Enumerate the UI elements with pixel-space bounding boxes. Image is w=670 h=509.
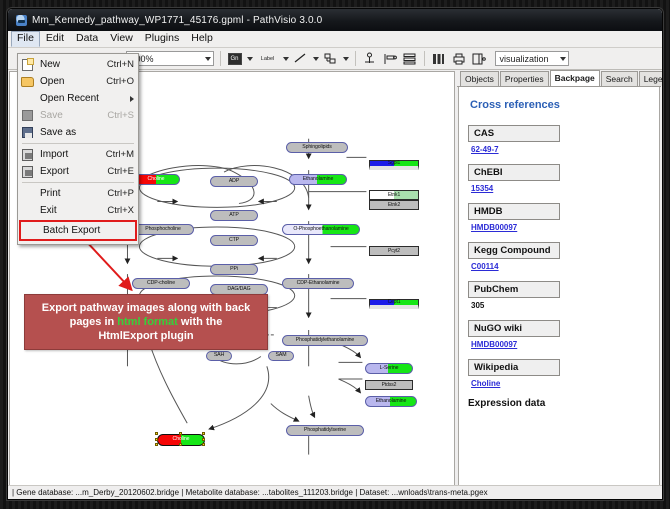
xref-link-anchor[interactable]: HMDB00097 — [471, 223, 517, 232]
visualization-value: visualization — [500, 54, 549, 64]
xref-link-anchor[interactable]: 62-49-7 — [471, 145, 499, 154]
menu-item-export-accel: Ctrl+E — [107, 166, 134, 177]
menu-item-import-label: Import — [40, 149, 106, 160]
xref-header: CAS — [468, 125, 560, 142]
xref-header: NuGO wiki — [468, 320, 560, 337]
callout-line-2: pages in html format with the — [33, 315, 259, 329]
menu-item-exit-accel: Ctrl+X — [107, 205, 134, 216]
menu-item-exit[interactable]: Exit Ctrl+X — [18, 202, 138, 219]
menu-item-save-accel: Ctrl+S — [107, 110, 134, 121]
menu-item-batch-export-label: Batch Export — [43, 225, 131, 236]
menu-item-import[interactable]: Import Ctrl+M — [18, 146, 138, 163]
menu-item-save-as-label: Save as — [40, 127, 134, 138]
menu-item-open[interactable]: Open Ctrl+O — [18, 73, 138, 90]
selection-handle[interactable] — [202, 438, 205, 441]
pathway-metabolite-node[interactable]: Choline — [132, 174, 180, 185]
xref-header: ChEBI — [468, 164, 560, 181]
expression-data-title: Expression data — [468, 398, 650, 409]
xref-link-anchor[interactable]: Choline — [471, 379, 500, 388]
pathway-metabolite-node[interactable]: CDP-Ethanolamine — [282, 278, 354, 289]
blank-icon — [20, 92, 35, 106]
anchor-tool-button[interactable] — [362, 51, 378, 67]
menu-item-new[interactable]: New Ctrl+N — [18, 56, 138, 73]
chevron-right-icon — [130, 96, 134, 102]
xref-link[interactable]: HMDB00097 — [471, 340, 650, 349]
menu-file[interactable]: File — [11, 31, 40, 47]
sidebar-panel: Objects Properties Backpage Search Legen… — [457, 71, 661, 499]
pathway-gene-node[interactable]: Cept1 — [369, 299, 419, 309]
menu-item-new-label: New — [40, 59, 107, 70]
pathway-metabolite-node[interactable]: Ethanolamine — [365, 396, 417, 407]
sidebar-icon — [472, 53, 486, 65]
menu-bar: File Edit Data View Plugins Help — [8, 31, 662, 48]
callout-highlight: html format — [117, 316, 178, 328]
pathway-gene-node[interactable]: Ptdss2 — [365, 380, 413, 390]
xref-link[interactable]: HMDB00097 — [471, 223, 650, 232]
pathway-metabolite-node[interactable]: Ethanolamine — [289, 174, 347, 185]
pathway-metabolite-node[interactable]: CDP-choline — [132, 278, 190, 289]
pathway-metabolite-node[interactable]: Sphingolipids — [286, 142, 348, 153]
app-icon — [16, 15, 27, 26]
pathway-metabolite-node[interactable]: Phosphocholine — [132, 224, 194, 235]
cross-reference-list: CAS62-49-7ChEBI15354HMDBHMDB00097Kegg Co… — [468, 125, 650, 388]
menu-plugins[interactable]: Plugins — [139, 31, 185, 47]
stack-tool-button[interactable] — [402, 51, 418, 67]
chevron-down-icon — [205, 57, 211, 61]
menu-edit[interactable]: Edit — [40, 31, 70, 47]
file-menu-dropdown[interactable]: New Ctrl+N Open Ctrl+O Open Recent Save … — [17, 53, 139, 245]
menu-item-save-as[interactable]: Save as — [18, 124, 138, 141]
label-tool-text: Label — [261, 56, 274, 62]
tab-properties[interactable]: Properties — [500, 71, 549, 86]
selection-handle[interactable] — [179, 443, 182, 446]
xref-link-anchor[interactable]: C00114 — [471, 262, 499, 271]
selection-handle[interactable] — [155, 432, 158, 435]
selection-handle[interactable] — [179, 432, 182, 435]
menu-separator-2 — [22, 182, 134, 183]
pathway-gene-node[interactable]: Pcyt2 — [369, 246, 419, 256]
menu-item-import-accel: Ctrl+M — [106, 149, 134, 160]
title-bar: Mm_Kennedy_pathway_WP1771_45176.gpml - P… — [8, 9, 662, 31]
pathway-metabolite-node[interactable]: ATP — [210, 210, 258, 221]
open-folder-icon — [20, 75, 35, 89]
selection-handle[interactable] — [202, 443, 205, 446]
xref-header: Wikipedia — [468, 359, 560, 376]
menu-help[interactable]: Help — [185, 31, 219, 47]
blank-icon-2 — [20, 187, 35, 201]
receptor-tool-button[interactable] — [323, 51, 339, 67]
tab-search[interactable]: Search — [601, 71, 638, 86]
xref-link[interactable]: 15354 — [471, 184, 650, 193]
print-tool-button[interactable] — [451, 51, 467, 67]
align-icon — [383, 53, 397, 65]
save-disk-icon — [20, 109, 35, 123]
menu-item-print-accel: Ctrl+P — [107, 188, 134, 199]
line-tool-button[interactable] — [293, 51, 309, 67]
menu-item-batch-export[interactable]: Batch Export — [21, 222, 135, 239]
stack-icon — [403, 53, 417, 65]
menu-item-save-label: Save — [40, 110, 107, 121]
label-tool-button[interactable]: Label — [257, 51, 279, 67]
new-file-icon — [20, 58, 35, 72]
backpage-content: Cross references CAS62-49-7ChEBI15354HMD… — [458, 87, 660, 498]
line-dropdown-icon[interactable] — [313, 57, 319, 61]
xref-header: Kegg Compound — [468, 242, 560, 259]
menu-item-open-recent[interactable]: Open Recent — [18, 90, 138, 107]
group-tool-button[interactable] — [431, 51, 447, 67]
selection-handle[interactable] — [155, 438, 158, 441]
toolbar-separator — [220, 51, 221, 66]
xref-header: PubChem — [468, 281, 560, 298]
callout-line-2b: with the — [178, 316, 223, 328]
pathway-metabolite-node[interactable]: Phosphatidylserine — [286, 425, 364, 436]
toolbar-separator-3 — [424, 51, 425, 66]
status-text: | Gene database: ...m_Derby_20120602.bri… — [12, 488, 488, 497]
callout-line-1: Export pathway images along with back — [33, 301, 259, 315]
gene-product-icon: Gn — [228, 53, 242, 65]
selection-handle[interactable] — [202, 432, 205, 435]
menu-item-open-label: Open — [40, 76, 106, 87]
menu-item-new-accel: Ctrl+N — [107, 59, 134, 70]
pathvisio-window: Mm_Kennedy_pathway_WP1771_45176.gpml - P… — [7, 8, 663, 500]
sidebar-toggle-button[interactable] — [471, 51, 487, 67]
window-title: Mm_Kennedy_pathway_WP1771_45176.gpml - P… — [32, 15, 322, 26]
cross-references-title: Cross references — [470, 99, 650, 111]
pathway-metabolite-node[interactable]: SAM — [268, 351, 294, 361]
printer-icon — [452, 53, 466, 65]
sidebar-tabstrip: Objects Properties Backpage Search Legen… — [457, 71, 661, 87]
xref-link[interactable]: C00114 — [471, 262, 650, 271]
annotation-callout: Export pathway images along with back pa… — [24, 294, 268, 350]
pathway-metabolite-node[interactable]: SAH — [206, 351, 232, 361]
export-icon — [20, 165, 35, 179]
visualization-combo[interactable]: visualization — [495, 51, 569, 66]
receptor-dropdown-icon[interactable] — [343, 57, 349, 61]
pathway-metabolite-node[interactable]: CTP — [210, 235, 258, 246]
pathway-gene-node[interactable]: Etnk1 — [369, 190, 419, 200]
blank-icon-3 — [20, 204, 35, 218]
callout-line-2a: pages in — [70, 316, 118, 328]
pathway-metabolite-node[interactable]: O-Phosphoethanolamine — [282, 224, 360, 235]
pathway-metabolite-node[interactable]: Phosphatidylethanolamine — [282, 335, 368, 346]
menu-item-export[interactable]: Export Ctrl+E — [18, 163, 138, 180]
pathway-metabolite-node[interactable]: L-Serine — [365, 363, 413, 374]
xref-link-anchor[interactable]: 15354 — [471, 184, 493, 193]
xref-value: 305 — [471, 301, 650, 310]
menu-data[interactable]: Data — [70, 31, 104, 47]
import-icon — [20, 148, 35, 162]
align-tool-button[interactable] — [382, 51, 398, 67]
xref-header: HMDB — [468, 203, 560, 220]
anchor-icon — [363, 52, 376, 65]
tab-backpage[interactable]: Backpage — [550, 70, 600, 86]
xref-link[interactable]: 62-49-7 — [471, 145, 650, 154]
menu-view[interactable]: View — [104, 31, 139, 47]
receptor-icon — [324, 53, 337, 65]
pathway-gene-node[interactable]: Sgpl1 — [369, 160, 419, 170]
status-bar: | Gene database: ...m_Derby_20120602.bri… — [8, 485, 662, 499]
menu-separator-1 — [22, 143, 134, 144]
tab-objects[interactable]: Objects — [460, 71, 499, 86]
xref-link[interactable]: Choline — [471, 379, 650, 388]
save-as-disk-icon — [20, 126, 35, 140]
menu-item-open-accel: Ctrl+O — [106, 76, 134, 87]
callout-line-3: HtmlExport plugin — [33, 329, 259, 343]
batch-export-highlight: Batch Export — [19, 220, 137, 241]
menu-item-open-recent-label: Open Recent — [40, 93, 130, 104]
menu-item-print-label: Print — [40, 188, 107, 199]
toolbar-separator-2 — [355, 51, 356, 66]
pathway-metabolite-node[interactable]: ADP — [210, 176, 258, 187]
line-icon — [294, 53, 307, 64]
menu-item-save: Save Ctrl+S — [18, 107, 138, 124]
menu-item-print[interactable]: Print Ctrl+P — [18, 185, 138, 202]
label-dropdown-icon[interactable] — [283, 57, 289, 61]
chevron-down-icon-2 — [560, 57, 566, 61]
selection-handle[interactable] — [155, 443, 158, 446]
gene-product-tool-button[interactable]: Gn — [227, 51, 243, 67]
menu-item-export-label: Export — [40, 166, 107, 177]
pathway-gene-node[interactable]: Etnk2 — [369, 200, 419, 210]
tab-legend[interactable]: Legend — [639, 71, 663, 86]
group-icon — [432, 53, 446, 65]
blank-icon-4 — [23, 224, 38, 238]
gene-product-dropdown-icon[interactable] — [247, 57, 253, 61]
xref-link-anchor[interactable]: HMDB00097 — [471, 340, 517, 349]
menu-item-exit-label: Exit — [40, 205, 107, 216]
pathway-metabolite-node[interactable]: PPi — [210, 264, 258, 275]
